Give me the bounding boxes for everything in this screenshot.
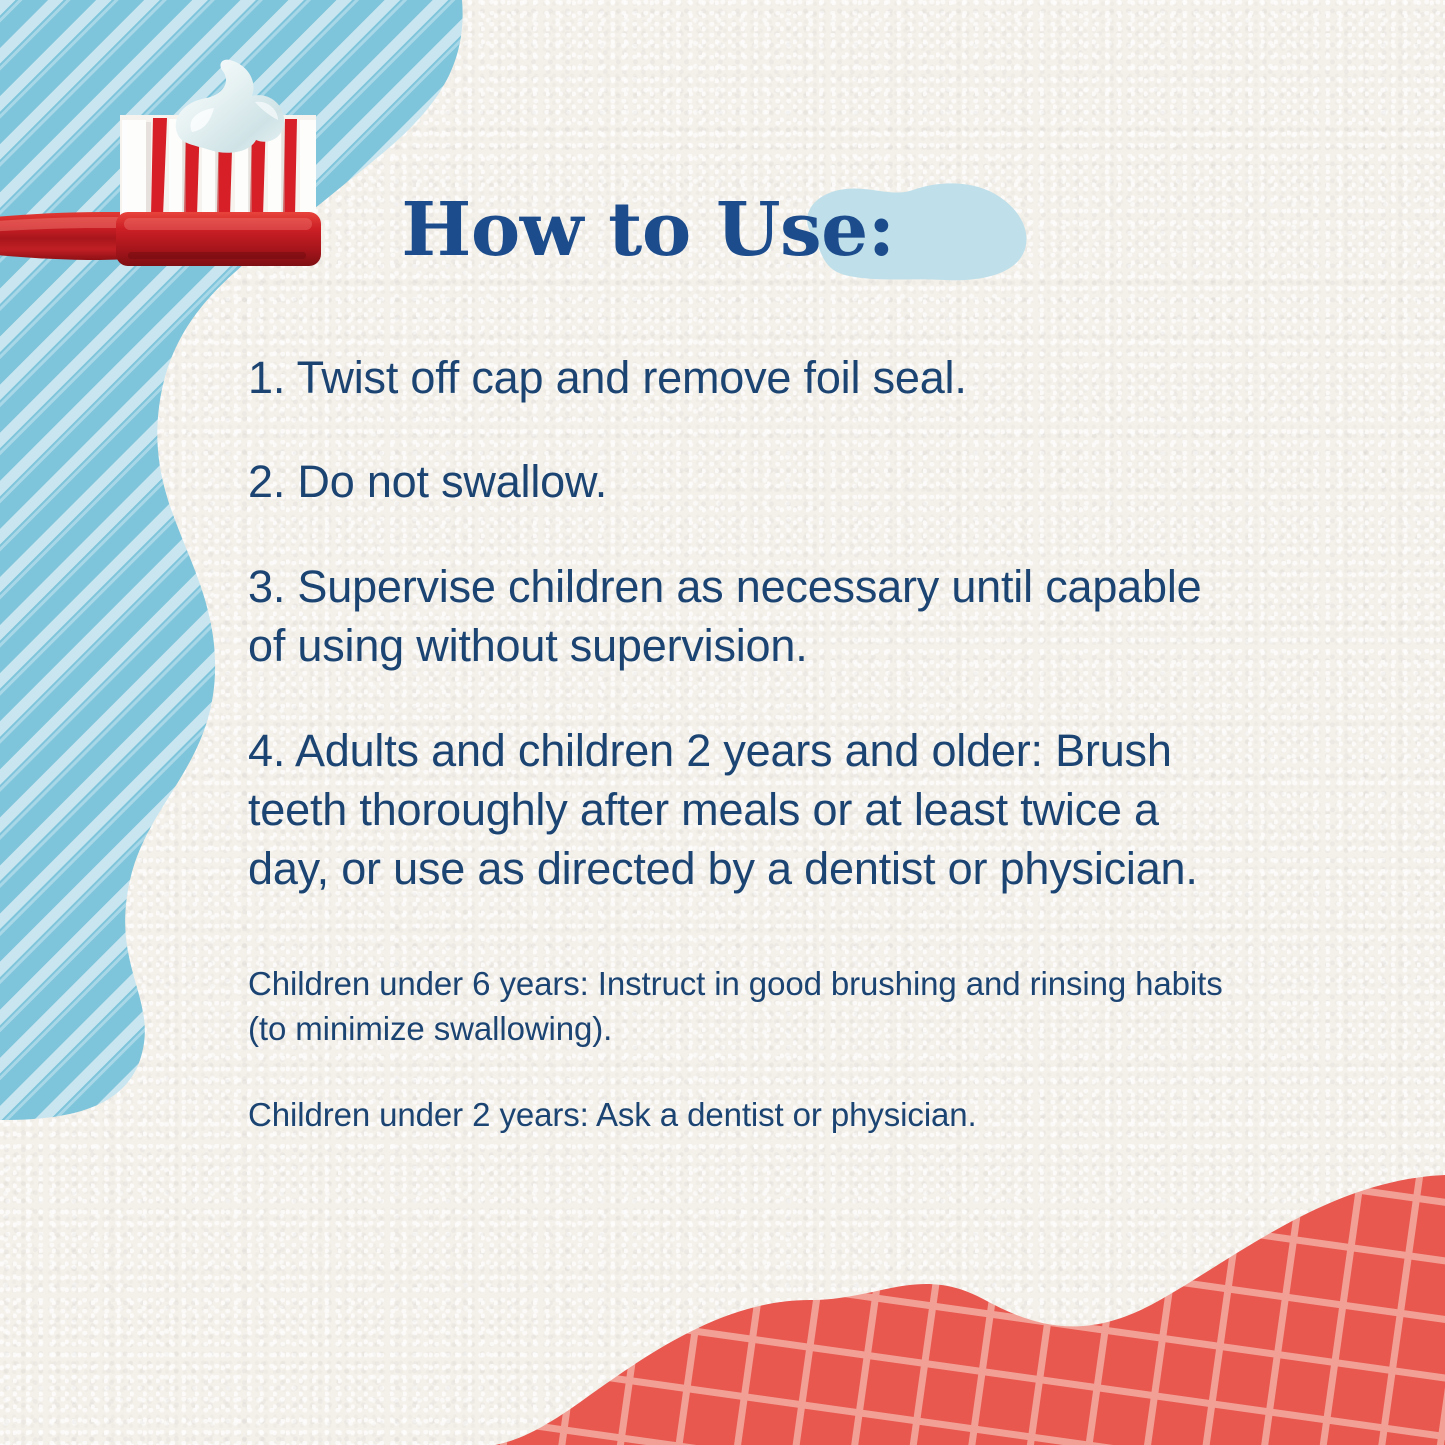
additional-note: Children under 6 years: Instruct in good… [248, 961, 1248, 1052]
how-to-use-poster: How to Use: 1. Twist off cap and remove … [0, 0, 1445, 1445]
instruction-steps-list: 1. Twist off cap and remove foil seal. 2… [248, 348, 1258, 899]
instruction-step: 3. Supervise children as necessary until… [248, 557, 1233, 676]
page-title-part-1: How to [401, 187, 716, 273]
page-title-part-2: Use: [716, 187, 895, 273]
toothpaste-blob [176, 60, 284, 153]
additional-note: Children under 2 years: Ask a dentist or… [248, 1092, 1248, 1138]
instruction-step: 4. Adults and children 2 years and older… [248, 721, 1233, 899]
toothbrush-handle [0, 212, 175, 260]
page-title: How to Use: [258, 170, 1038, 290]
additional-notes-list: Children under 6 years: Instruct in good… [248, 961, 1258, 1138]
instruction-step: 2. Do not swallow. [248, 452, 1233, 511]
page-title-wrap: How to Use: [258, 170, 1038, 300]
content-column: How to Use: 1. Twist off cap and remove … [248, 170, 1258, 1137]
red-grid-blob [400, 1100, 1445, 1445]
instruction-step: 1. Twist off cap and remove foil seal. [248, 348, 1233, 407]
